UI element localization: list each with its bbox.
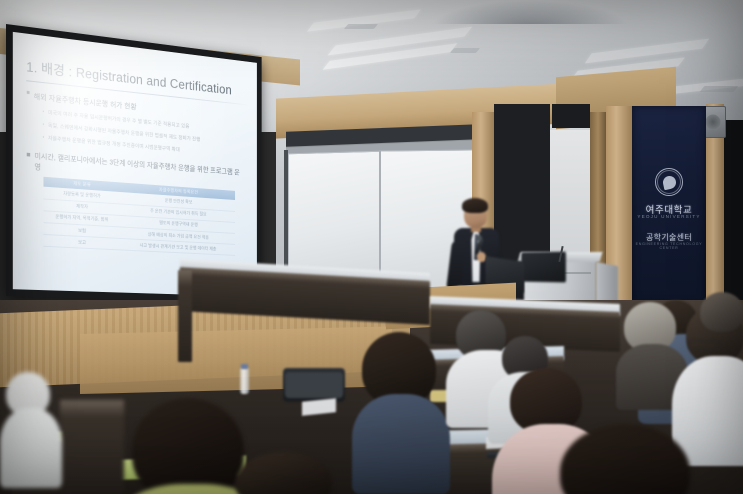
bullet-marker-icon: ■ bbox=[26, 90, 30, 98]
banner-english-name: YEOJU UNIVERSITY bbox=[632, 214, 706, 219]
projection-screen: 1. 배경 : Registration and Certification ■… bbox=[13, 32, 257, 297]
eyeglasses-icon bbox=[688, 340, 720, 350]
doorway-dark bbox=[724, 120, 743, 300]
speaker-cone-icon bbox=[706, 115, 721, 130]
university-banner: 여주대학교 YEOJU UNIVERSITY 공학기술센터 ENGINEERIN… bbox=[632, 106, 706, 306]
water-bottle bbox=[240, 368, 249, 394]
bullet-marker-icon: ■ bbox=[26, 150, 30, 159]
bullet-marker-icon: ▪ bbox=[43, 109, 45, 115]
bottle-cap-icon bbox=[241, 364, 248, 369]
bullet-marker-icon: ▪ bbox=[43, 121, 45, 127]
presentation-slide: 1. 배경 : Registration and Certification ■… bbox=[13, 32, 257, 297]
attendee-head bbox=[700, 292, 743, 332]
upper-dark-trim bbox=[552, 104, 590, 128]
banner-english-sub: ENGINEERING TECHNOLOGY CENTER bbox=[632, 242, 706, 250]
chair-cushion bbox=[285, 372, 343, 398]
attendee-head bbox=[132, 398, 244, 494]
emblem-outer-ring-icon bbox=[657, 170, 681, 194]
lecture-hall-photo: 여주대학교 YEOJU UNIVERSITY 공학기술센터 ENGINEERIN… bbox=[0, 0, 743, 494]
microphone-head-icon bbox=[476, 235, 482, 241]
attendee-body bbox=[352, 394, 450, 494]
slide-table: 제도 분류 자율주행차의 등록요건 차량등록 및 운행허가 운행 안전성 확보 … bbox=[43, 177, 235, 256]
presenter-hair bbox=[462, 198, 488, 213]
desk-pillar-front bbox=[60, 400, 124, 494]
desk-end-panel bbox=[178, 270, 192, 362]
attendee-body bbox=[0, 408, 62, 488]
bullet-marker-icon: ▪ bbox=[43, 134, 45, 140]
